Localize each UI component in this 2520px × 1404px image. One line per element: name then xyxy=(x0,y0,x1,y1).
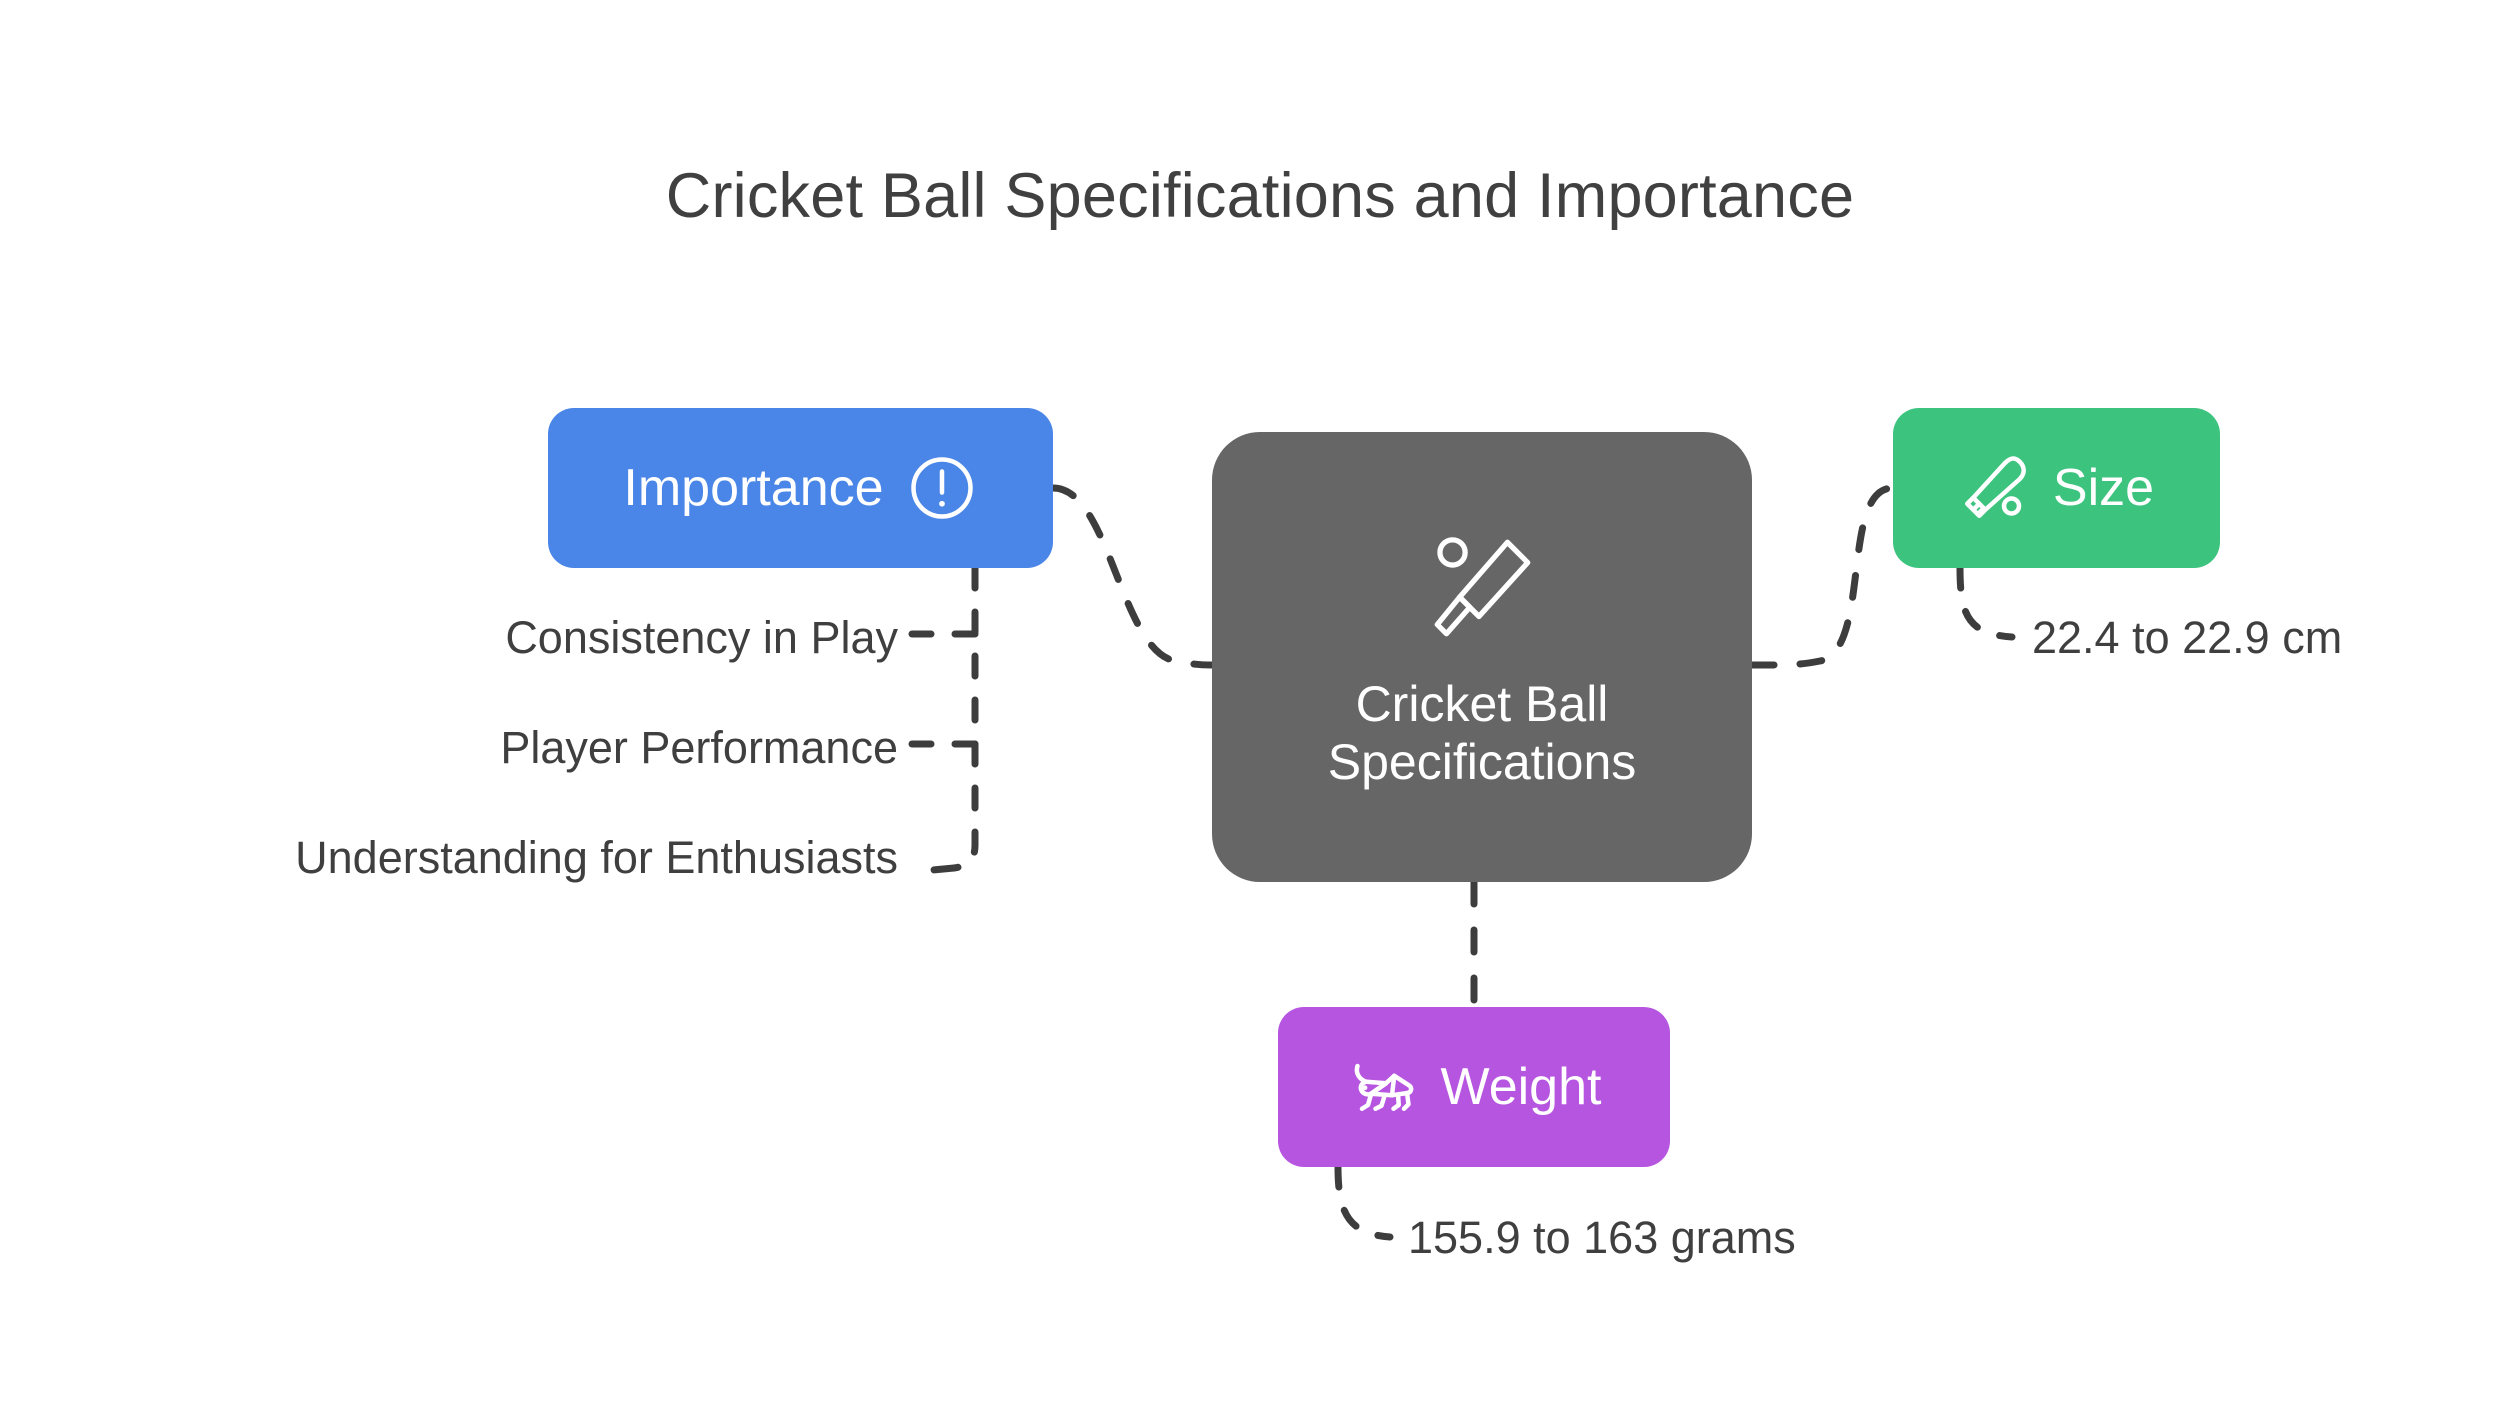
central-node-label: Cricket Ball Specifications xyxy=(1328,675,1637,792)
exclamation-circle-icon xyxy=(906,452,978,524)
branch-label-weight: Weight xyxy=(1441,1057,1602,1117)
leaf-label-consistency-in-play: Consistency in Play xyxy=(378,612,898,664)
branch-node-weight[interactable]: Weight xyxy=(1278,1007,1670,1167)
edge-spine-to-understanding xyxy=(912,868,954,872)
value-label-weight: 155.9 to 163 grams xyxy=(1408,1212,1796,1264)
branch-label-size: Size xyxy=(2053,458,2154,518)
leaf-label-understanding-for-enthusiasts: Understanding for Enthusiasts xyxy=(78,832,898,884)
edge-importance-spine xyxy=(954,568,975,868)
edge-importance-to-center xyxy=(1053,488,1212,665)
cricket-bat-and-ball-icon xyxy=(1417,523,1547,653)
central-node-label-line1: Cricket Ball xyxy=(1328,675,1637,734)
edge-weight-to-value xyxy=(1338,1167,1390,1237)
cricket-insect-icon xyxy=(1347,1051,1419,1123)
branch-node-importance[interactable]: Importance xyxy=(548,408,1053,568)
branch-node-size[interactable]: Size xyxy=(1893,408,2220,568)
page-title: Cricket Ball Specifications and Importan… xyxy=(0,160,2520,232)
edge-center-to-size xyxy=(1752,488,1893,665)
value-label-size: 22.4 to 22.9 cm xyxy=(2032,612,2342,664)
edge-size-to-value xyxy=(1960,568,2012,637)
central-node[interactable]: Cricket Ball Specifications xyxy=(1212,432,1752,882)
central-node-label-line2: Specifications xyxy=(1328,733,1637,792)
cricket-bat-ball-icon xyxy=(1959,452,2031,524)
leaf-label-player-performance: Player Performance xyxy=(368,722,898,774)
branch-label-importance: Importance xyxy=(623,458,883,518)
diagram-canvas: Cricket Ball Specifications and Importan… xyxy=(0,0,2520,1404)
